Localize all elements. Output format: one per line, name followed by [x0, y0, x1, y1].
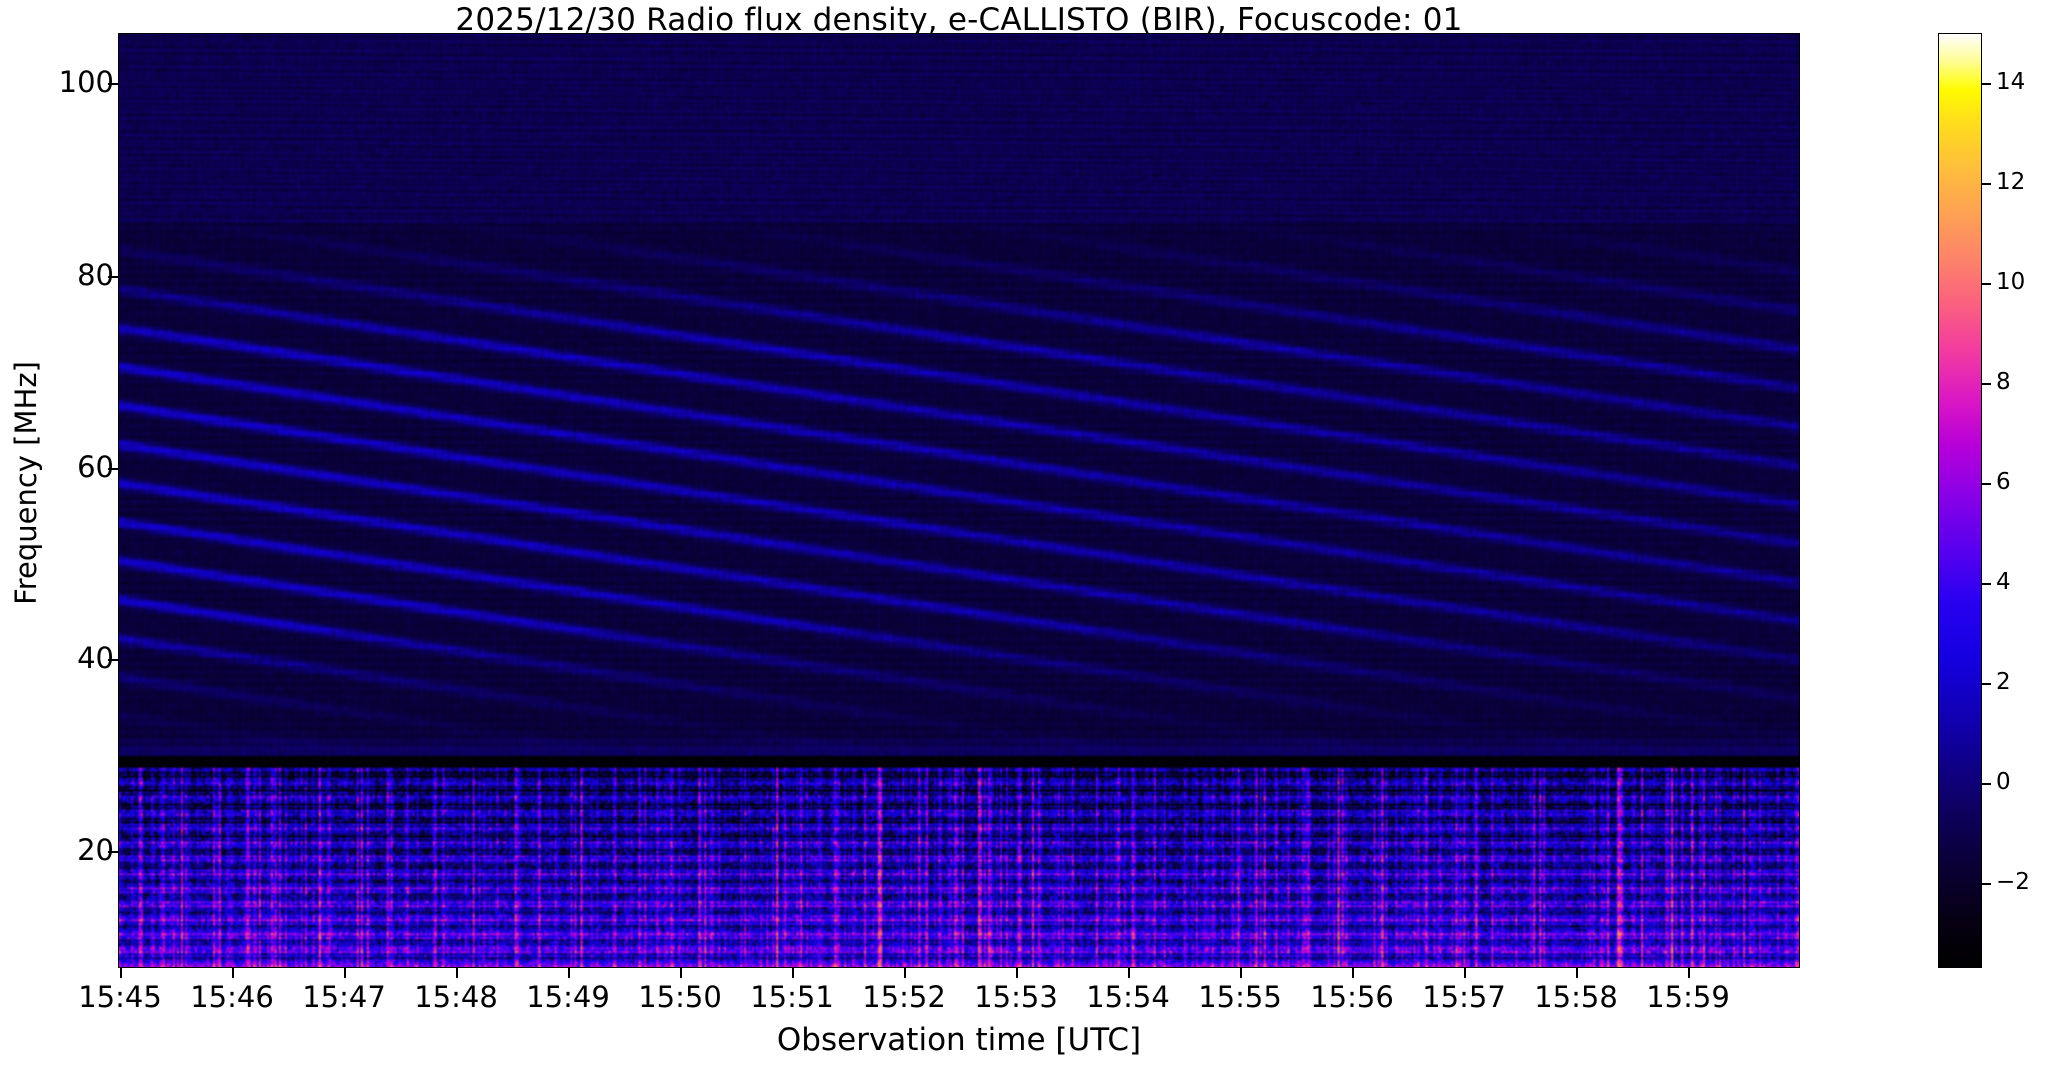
colorbar-tick-label: 0 [1996, 771, 2011, 794]
y-tick-label: 60 [77, 453, 114, 482]
colorbar-tick-mark [1982, 683, 1991, 685]
colorbar-tick-mark [1982, 383, 1991, 385]
x-tick-label: 15:45 [78, 983, 162, 1012]
x-tick-mark [456, 968, 458, 978]
colorbar-tick-label: 8 [1996, 371, 2011, 394]
x-tick-label: 15:53 [974, 983, 1058, 1012]
colorbar-tick-mark [1982, 783, 1991, 785]
colorbar-tick-label: 10 [1996, 271, 2025, 294]
y-tick-label: 80 [77, 261, 114, 290]
x-tick-mark [344, 968, 346, 978]
colorbar-tick-mark [1982, 583, 1991, 585]
x-tick-label: 15:54 [1086, 983, 1170, 1012]
colorbar-tick-mark [1982, 283, 1991, 285]
x-tick-mark [904, 968, 906, 978]
colorbar-tick-label: 12 [1996, 171, 2025, 194]
colorbar-tick-label: 14 [1996, 71, 2025, 94]
x-tick-label: 15:56 [1310, 983, 1394, 1012]
x-tick-label: 15:55 [1198, 983, 1282, 1012]
y-tick-label: 100 [59, 68, 114, 97]
colorbar-tick-mark [1982, 183, 1991, 185]
y-tick-label: 20 [77, 836, 114, 865]
x-tick-label: 15:58 [1534, 983, 1618, 1012]
y-tick-label: 40 [77, 644, 114, 673]
x-tick-mark [792, 968, 794, 978]
x-tick-mark [1464, 968, 1466, 978]
x-tick-label: 15:47 [302, 983, 386, 1012]
x-tick-mark [232, 968, 234, 978]
x-tick-mark [1576, 968, 1578, 978]
x-tick-mark [1688, 968, 1690, 978]
x-tick-mark [1352, 968, 1354, 978]
x-tick-label: 15:48 [414, 983, 498, 1012]
spectrogram-figure: 2025/12/30 Radio flux density, e-CALLIST… [0, 0, 2066, 1067]
colorbar-tick-mark [1982, 483, 1991, 485]
colorbar-tick-label: 6 [1996, 471, 2011, 494]
spectrogram-axes [118, 33, 1800, 968]
x-tick-mark [120, 968, 122, 978]
x-tick-label: 15:51 [750, 983, 834, 1012]
x-tick-mark [1128, 968, 1130, 978]
x-tick-label: 15:59 [1646, 983, 1730, 1012]
x-tick-mark [1240, 968, 1242, 978]
x-axis-label: Observation time [UTC] [118, 1022, 1800, 1058]
colorbar [1938, 33, 1982, 968]
colorbar-tick-label: 4 [1996, 571, 2011, 594]
colorbar-tick-label: −2 [1996, 871, 2030, 894]
x-tick-label: 15:46 [190, 983, 274, 1012]
y-axis-label: Frequency [MHz] [9, 13, 43, 953]
x-tick-label: 15:49 [526, 983, 610, 1012]
colorbar-tick-mark [1982, 883, 1991, 885]
spectrogram-image [119, 34, 1799, 967]
x-tick-label: 15:50 [638, 983, 722, 1012]
x-tick-mark [568, 968, 570, 978]
colorbar-tick-label: 2 [1996, 671, 2011, 694]
x-tick-label: 15:52 [862, 983, 946, 1012]
colorbar-tick-mark [1982, 83, 1991, 85]
x-tick-label: 15:57 [1422, 983, 1506, 1012]
x-tick-mark [680, 968, 682, 978]
x-tick-mark [1016, 968, 1018, 978]
